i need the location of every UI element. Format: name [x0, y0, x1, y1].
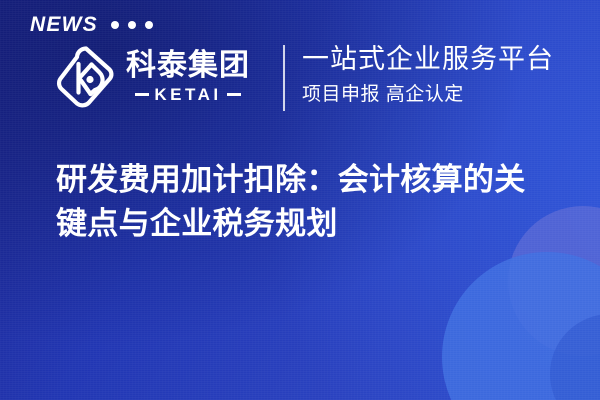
slogan-main-text: 一站式企业服务平台 [302, 44, 554, 75]
brand-name-en-row: KETAI [126, 86, 250, 103]
news-banner: NEWS 科泰集团 KETAI [0, 0, 600, 400]
brand-name-en: KETAI [154, 86, 221, 103]
dot-icon-3 [145, 21, 153, 29]
vertical-divider-icon [283, 45, 285, 111]
news-header: NEWS [30, 14, 153, 35]
brand-wordmark: 科泰集团 KETAI [126, 51, 250, 103]
slogan-block: 一站式企业服务平台 项目申报 高企认定 [302, 44, 554, 106]
dot-icon-1 [111, 21, 119, 29]
slogan-sub-text: 项目申报 高企认定 [302, 84, 554, 106]
logo-rule-left-icon [135, 93, 149, 96]
article-headline: 研发费用加计扣除：会计核算的关键点与企业税务规划 [56, 158, 556, 246]
dot-icon-2 [128, 21, 136, 29]
news-dots [111, 21, 153, 29]
logo-rule-right-icon [227, 93, 241, 96]
news-label: NEWS [30, 14, 98, 35]
ketai-diamond-kd-logo-icon [55, 44, 117, 110]
brand-name-cn: 科泰集团 [126, 51, 250, 81]
brand-logo: 科泰集团 KETAI [55, 44, 250, 110]
